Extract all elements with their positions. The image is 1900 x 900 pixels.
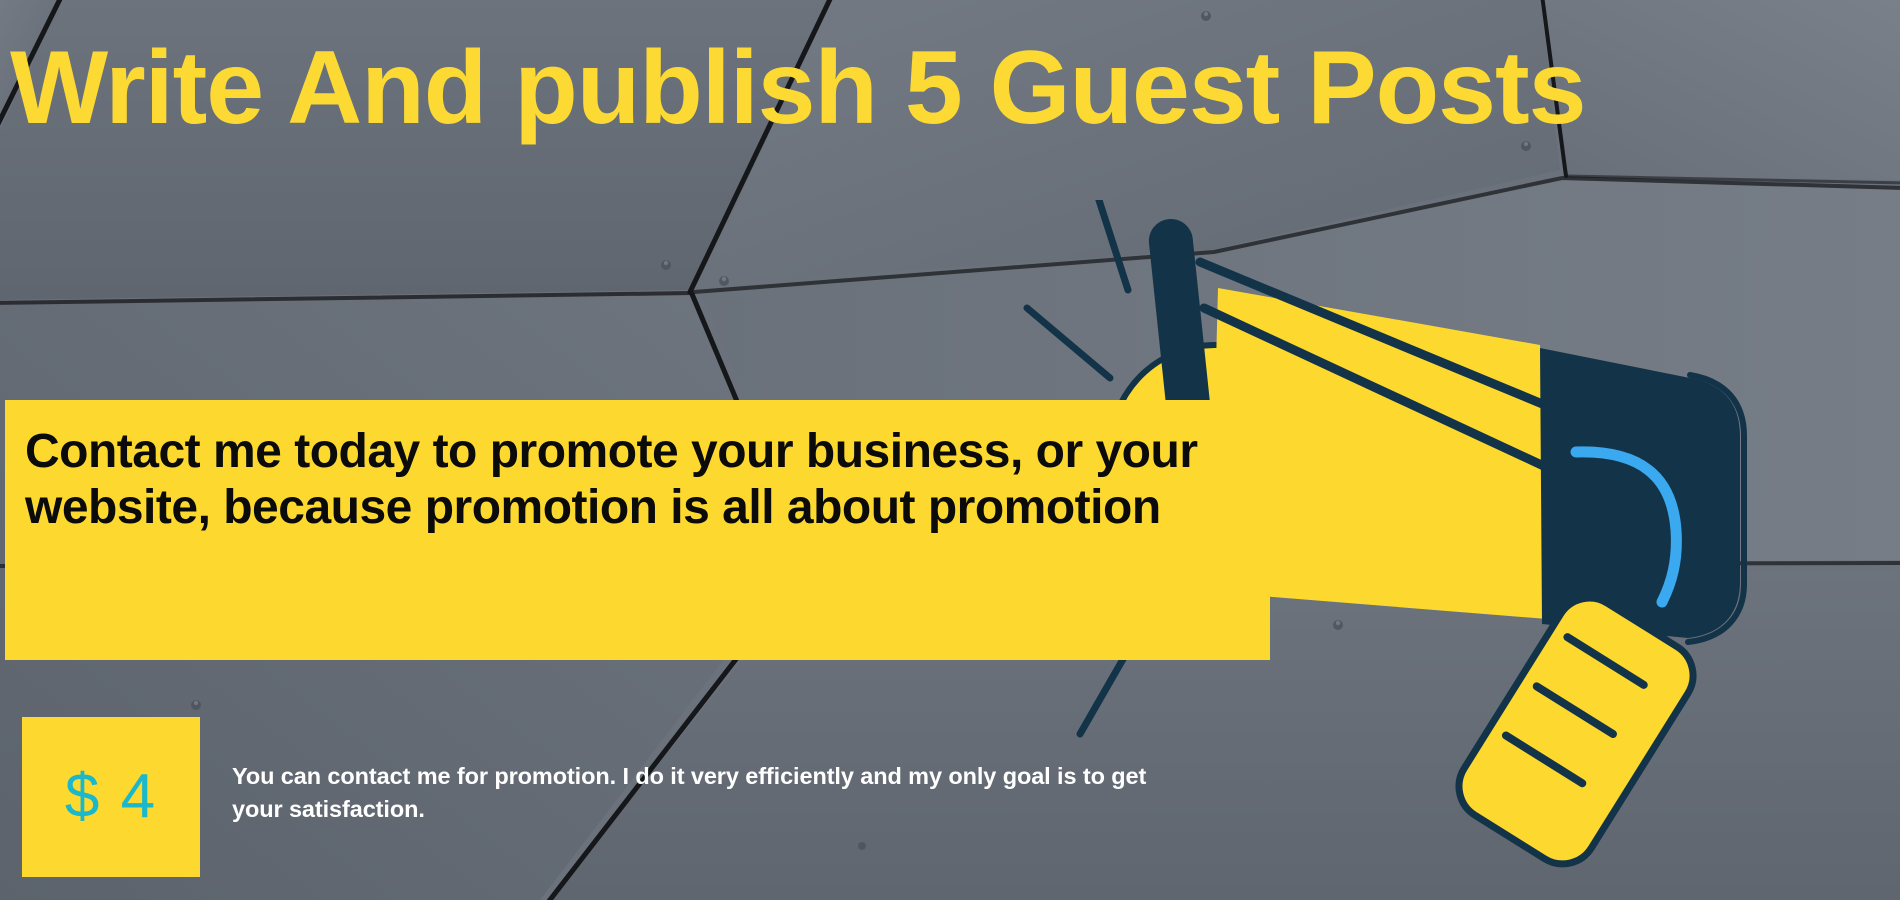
page-title: Write And publish 5 Guest Posts (10, 34, 1890, 143)
price-value: $ 4 (65, 766, 157, 828)
callout-text: Contact me today to promote your busines… (25, 424, 1235, 536)
promo-description: You can contact me for promotion. I do i… (232, 760, 1172, 827)
price-badge: $ 4 (22, 717, 200, 877)
megaphone-body (1540, 348, 1740, 638)
callout-box: Contact me today to promote your busines… (5, 400, 1270, 660)
